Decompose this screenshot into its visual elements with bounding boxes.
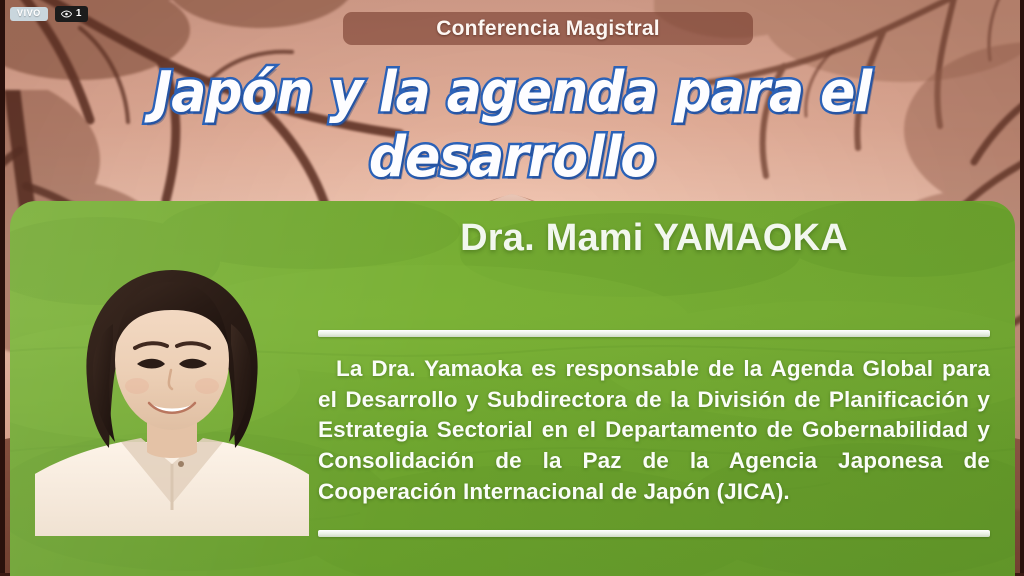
headline-wrap: Japón y la agenda para el desarrollo xyxy=(0,60,1024,190)
divider-bottom xyxy=(318,530,990,537)
eye-icon xyxy=(61,10,72,18)
speaker-name: Dra. Mami YAMAOKA xyxy=(318,214,990,260)
live-badge: VIVO xyxy=(10,7,48,21)
live-status-group: VIVO 1 xyxy=(10,6,88,22)
speaker-photo xyxy=(35,252,309,536)
kicker-label: Conferencia Magistral xyxy=(436,17,660,41)
divider-top xyxy=(318,330,990,337)
broadcast-slide: VIVO 1 Conferencia Magistral Japón y la … xyxy=(0,0,1024,576)
viewer-count-value: 1 xyxy=(76,9,82,19)
viewer-count-badge: 1 xyxy=(55,6,89,22)
speaker-info-column: Dra. Mami YAMAOKA La Dra. Yamaoka es res… xyxy=(318,214,990,508)
divider-bottom-wrap xyxy=(318,530,990,537)
speaker-bio: La Dra. Yamaoka es responsable de la Age… xyxy=(318,354,990,508)
kicker-pill: Conferencia Magistral xyxy=(343,12,753,45)
slide-headline: Japón y la agenda para el desarrollo xyxy=(36,60,988,190)
